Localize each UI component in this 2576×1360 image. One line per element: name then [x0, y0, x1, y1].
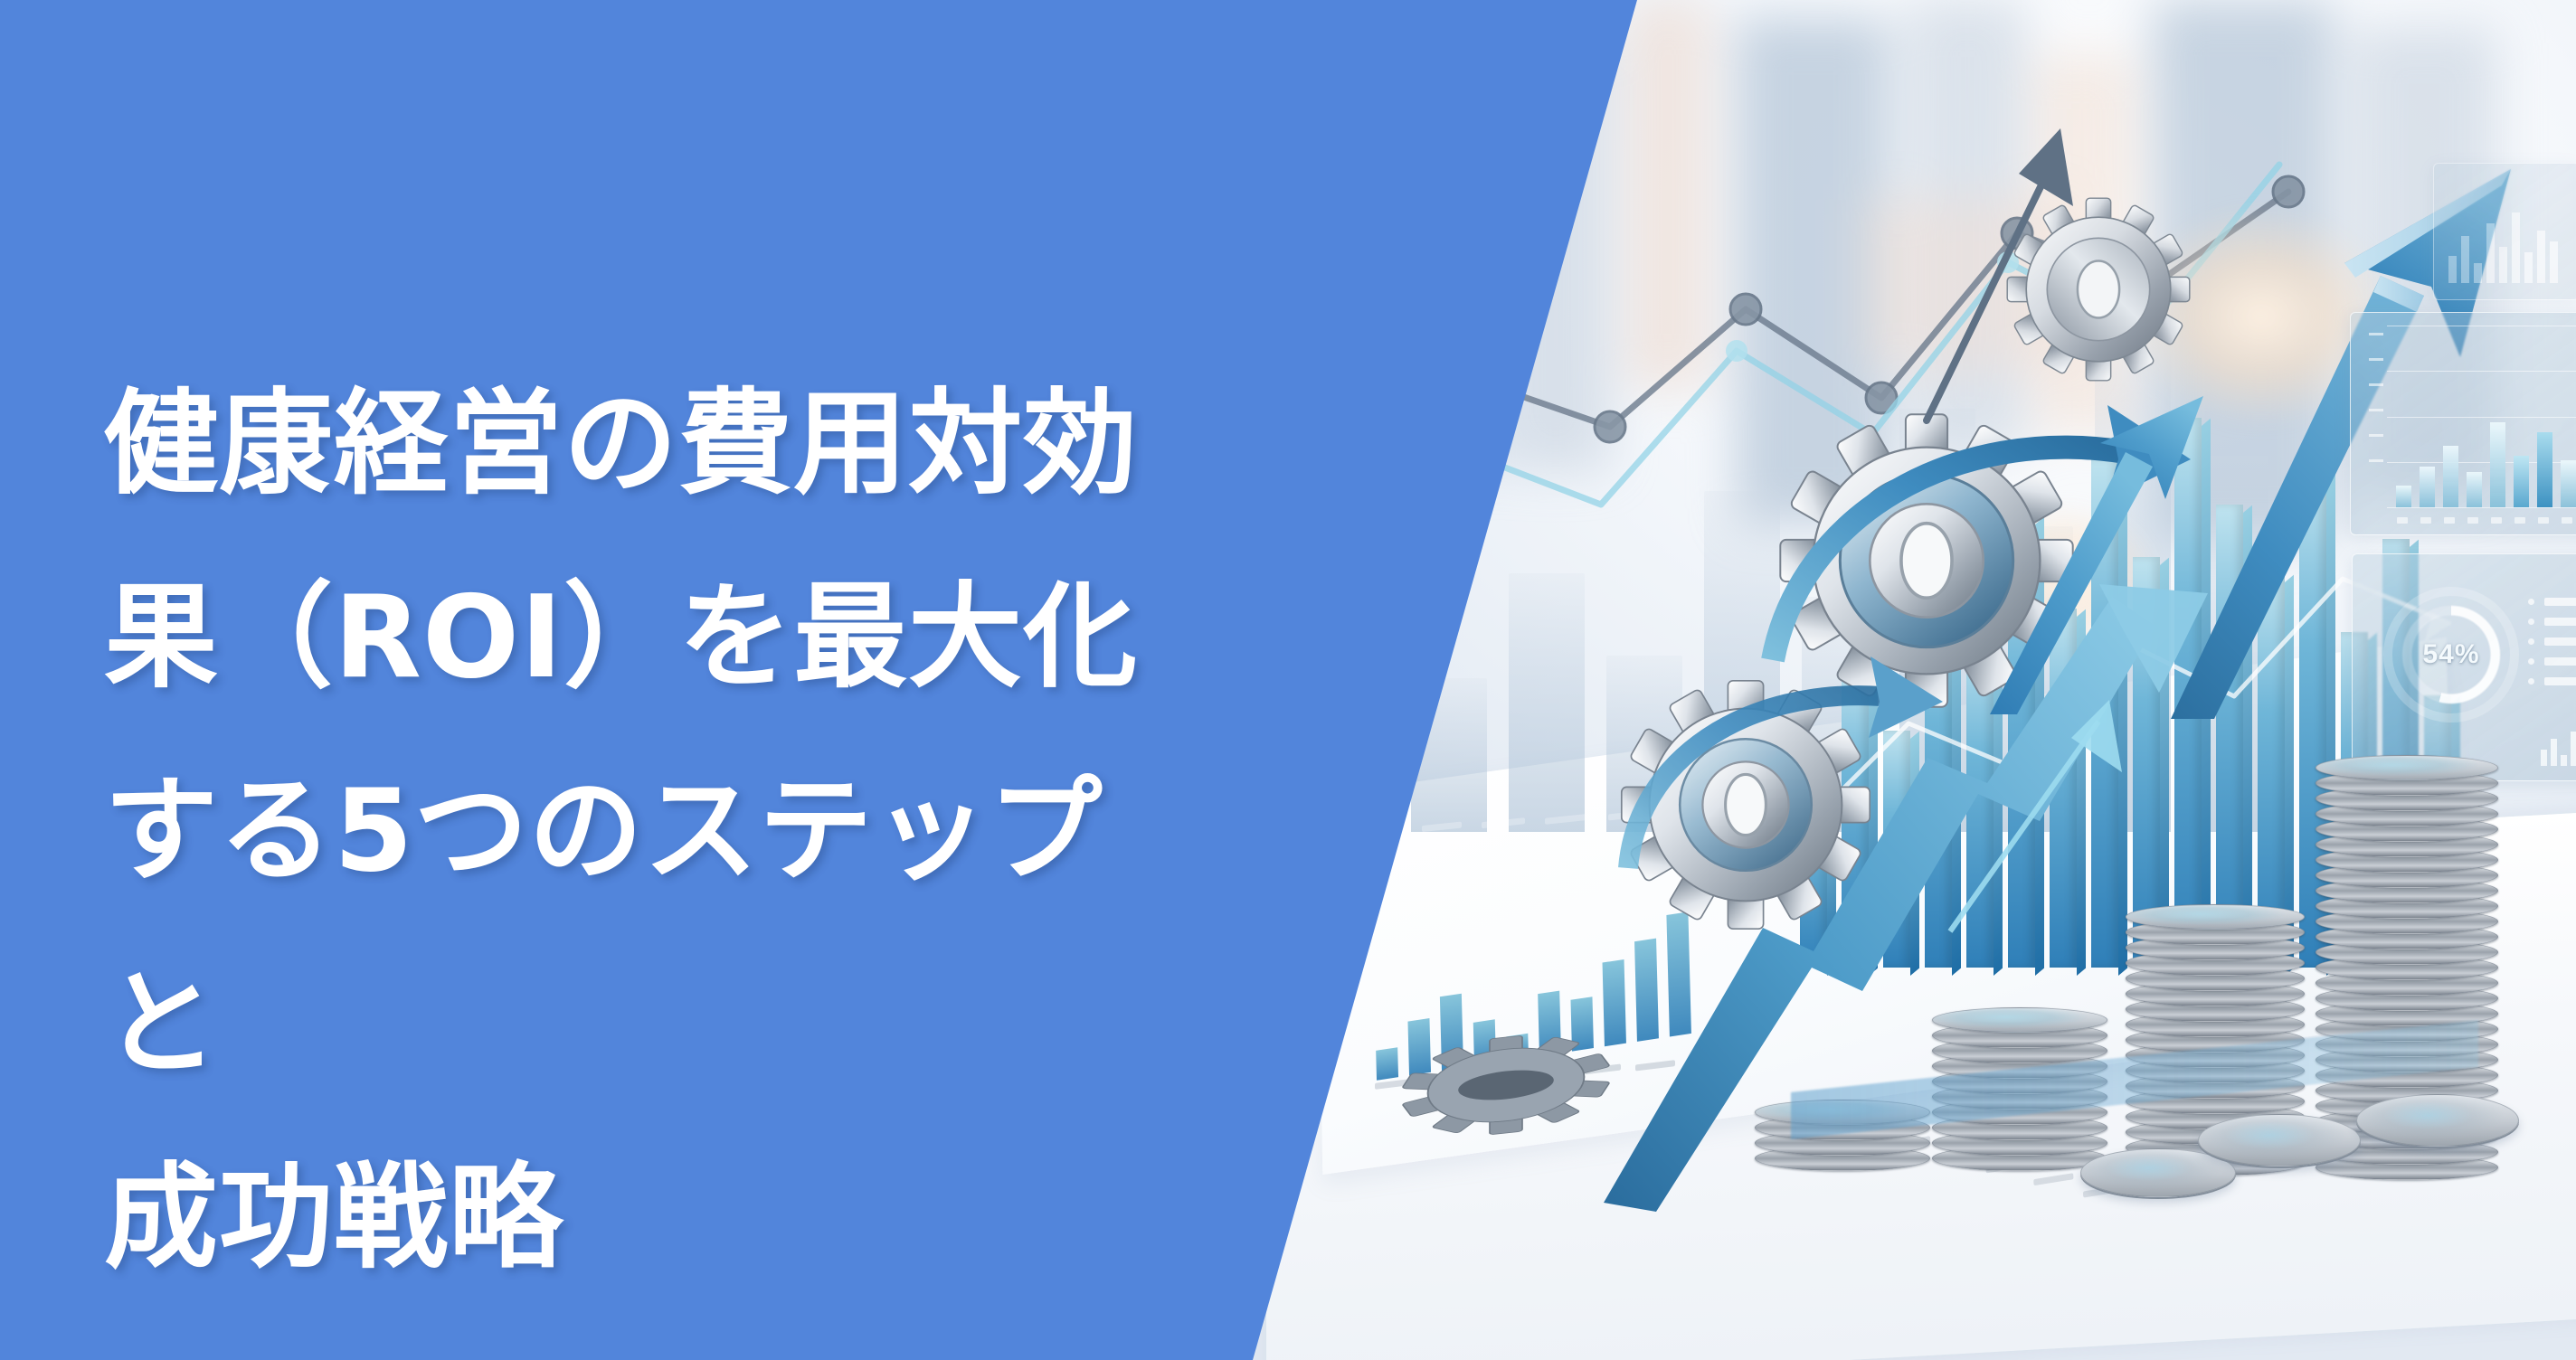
hud-side-sparkbars	[2448, 207, 2564, 283]
ogp-banner: 54%	[0, 0, 2576, 1360]
coin-stack-icon-2	[1932, 945, 2106, 1171]
loose-coin-1	[2080, 1148, 2236, 1197]
hud-panel-bar-chart	[2392, 390, 2576, 507]
hud-y-ticks	[2369, 327, 2383, 505]
loose-coin-3	[2356, 1094, 2519, 1147]
loose-coin-2	[2198, 1114, 2361, 1166]
hud-sparkline-bars	[2541, 722, 2576, 766]
hud-x-tick-labels	[2392, 511, 2576, 525]
hud-side-panel	[2433, 163, 2576, 300]
hud-legend-rows	[2544, 598, 2576, 706]
page-title: 健康経営の費用対効 果（ROI）を最大化 する5つのステップと 成功戦略	[104, 347, 1171, 1315]
hud-bar-chart-panel	[2350, 312, 2576, 535]
